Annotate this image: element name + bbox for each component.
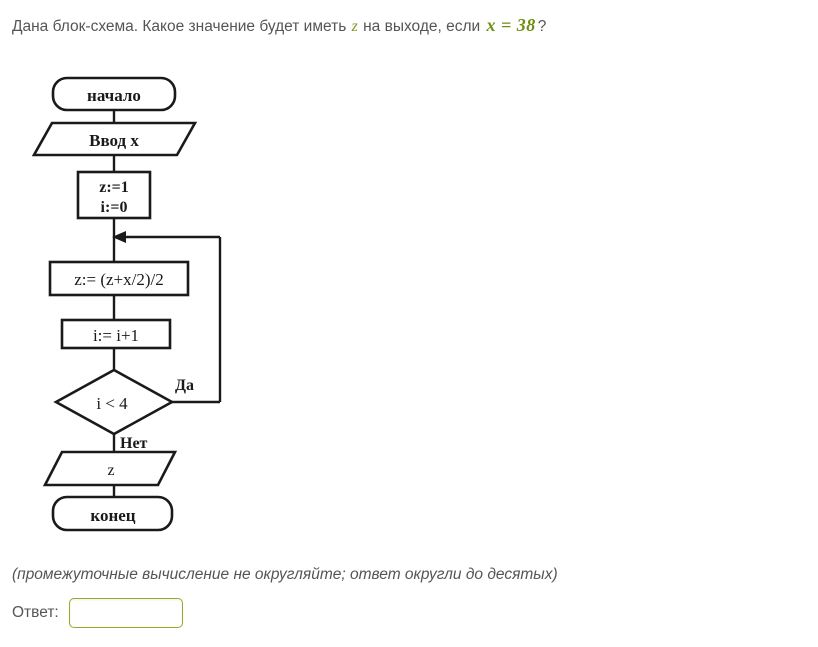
math-equation-x: x = 38 bbox=[485, 15, 538, 35]
flowchart-output-label: z bbox=[107, 462, 114, 479]
flowchart-input-label: Ввод x bbox=[89, 131, 139, 150]
flowchart-branch-label-no: Нет bbox=[120, 435, 148, 452]
flowchart-node-output: z bbox=[45, 452, 175, 485]
flowchart-diagram: начало Ввод x z:=1 i:=0 z:= (z+x/2)/2 i:… bbox=[0, 62, 280, 552]
question-text-part2: на выходе, если bbox=[359, 18, 485, 35]
flowchart-branch-label-yes: Да bbox=[175, 377, 194, 394]
flowchart-end-label: конец bbox=[90, 506, 135, 525]
flowchart-node-start: начало bbox=[53, 78, 175, 110]
page-title: Дана блок-схема. Какое значение будет им… bbox=[12, 14, 802, 38]
answer-label: Ответ: bbox=[12, 604, 59, 622]
question-text-part1: Дана блок-схема. Какое значение будет им… bbox=[12, 18, 351, 35]
answer-row: Ответ: bbox=[12, 598, 183, 628]
flowchart-node-input: Ввод x bbox=[34, 123, 195, 155]
answer-input[interactable] bbox=[69, 598, 183, 628]
flowchart-node-init: z:=1 i:=0 bbox=[78, 172, 150, 218]
flowchart-node-compute: z:= (z+x/2)/2 bbox=[50, 262, 188, 295]
question-text-part3: ? bbox=[538, 18, 547, 35]
flowchart-node-increment: i:= i+1 bbox=[62, 320, 170, 348]
flowchart-init-line1: z:=1 bbox=[99, 179, 129, 196]
flowchart-condition-label: i < 4 bbox=[96, 394, 128, 413]
instruction-note: (промежуточные вычисление не округляйте;… bbox=[12, 566, 558, 584]
math-variable-z: z bbox=[351, 18, 359, 35]
flowchart-compute-label: z:= (z+x/2)/2 bbox=[74, 270, 164, 289]
flowchart-node-end: конец bbox=[53, 497, 172, 530]
flowchart-increment-label: i:= i+1 bbox=[93, 326, 139, 345]
flowchart-start-label: начало bbox=[87, 86, 141, 105]
flowchart-init-line2: i:=0 bbox=[101, 199, 128, 216]
flowchart-node-condition: i < 4 bbox=[56, 370, 172, 434]
